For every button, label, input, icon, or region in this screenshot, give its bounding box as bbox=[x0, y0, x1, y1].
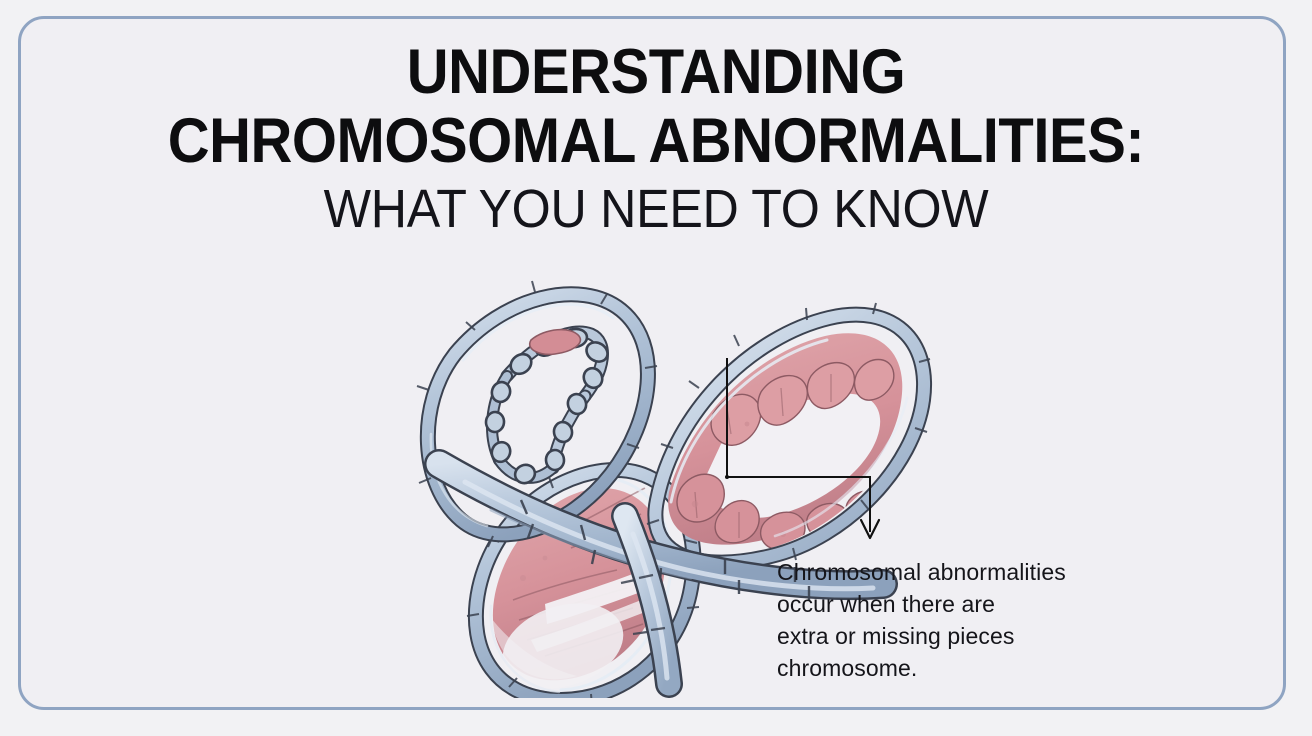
caption-line-4: chromosome. bbox=[777, 652, 1177, 684]
caption-line-3: extra or missing pieces bbox=[777, 620, 1177, 652]
upper-left-inner-chain bbox=[485, 327, 611, 486]
upper-left-chromatin-fleck bbox=[530, 330, 581, 355]
upper-right-lobe bbox=[647, 303, 930, 570]
callout-caption: Chromosomal abnormalities occur when the… bbox=[777, 556, 1177, 684]
slide-canvas: UNDERSTANDING CHROMOSOMAL ABNORMALITIES:… bbox=[0, 0, 1312, 736]
caption-line-1: Chromosomal abnormalities bbox=[777, 556, 1177, 588]
caption-line-2: occur when there are bbox=[777, 588, 1177, 620]
